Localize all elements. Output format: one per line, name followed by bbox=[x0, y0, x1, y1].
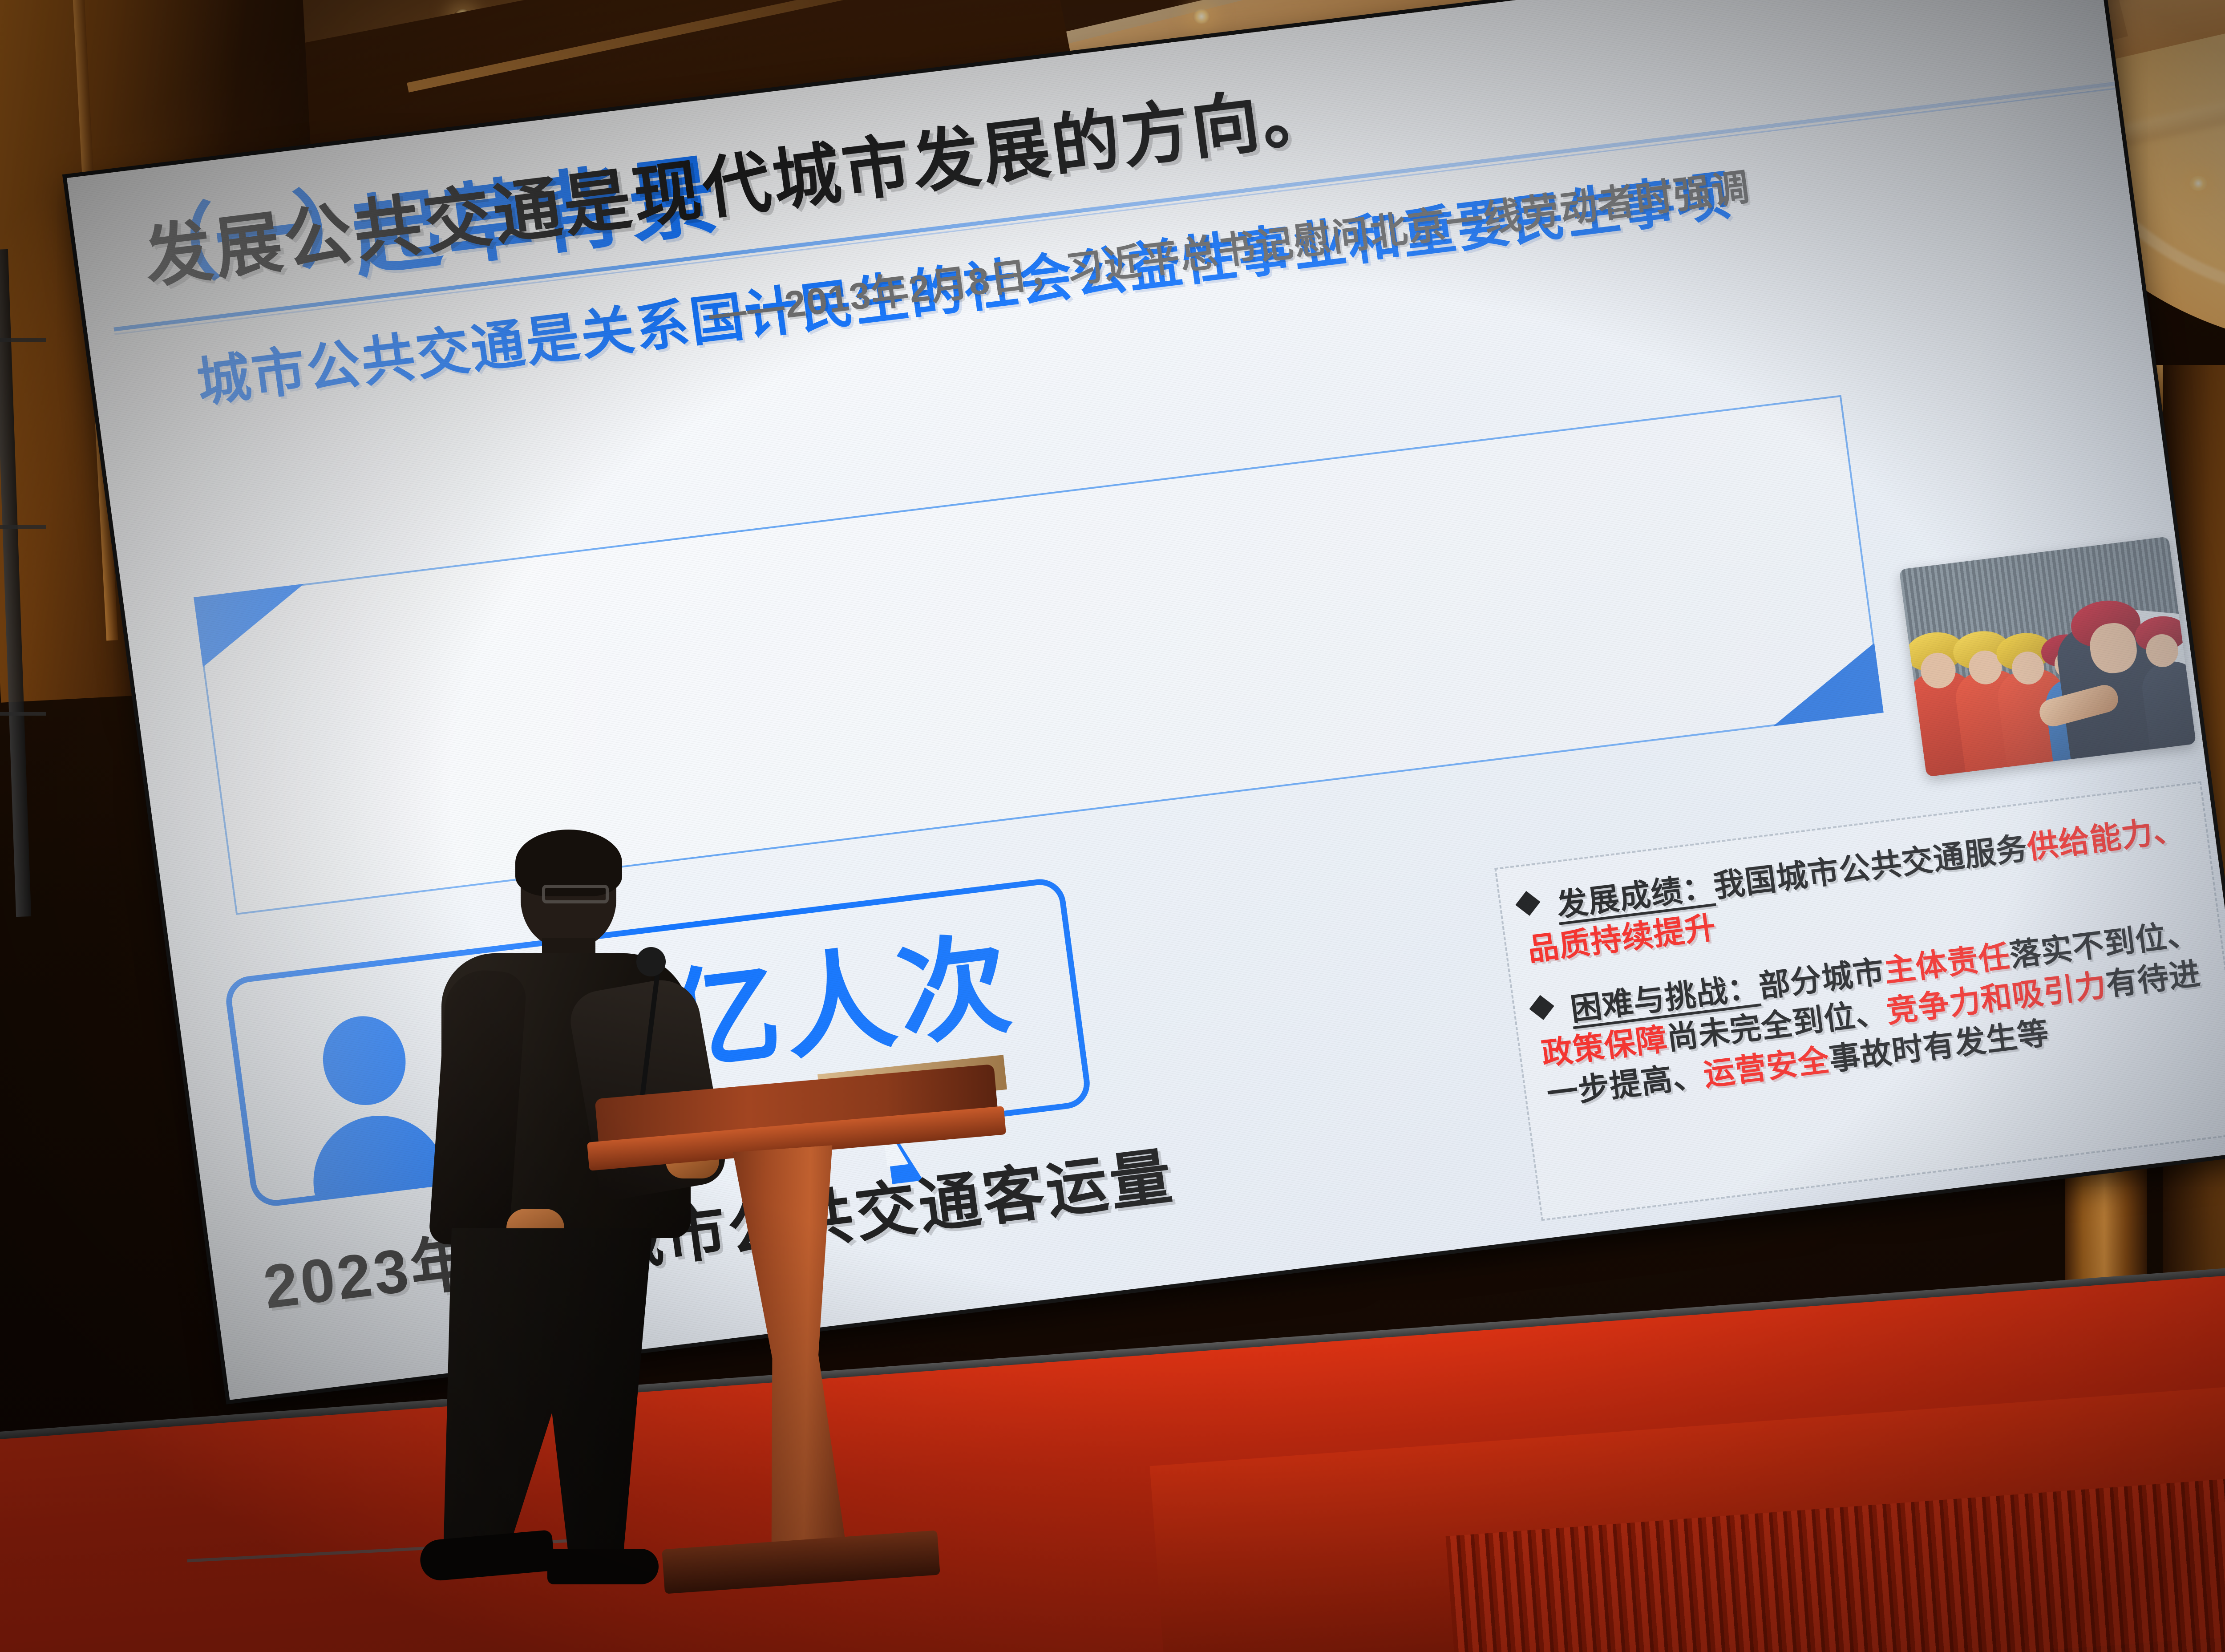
podium bbox=[596, 1081, 997, 1598]
podium-column bbox=[694, 1142, 899, 1555]
microphone-icon bbox=[636, 947, 666, 976]
bullet-segment-highlight: 运营安全 bbox=[1702, 1042, 1832, 1092]
bullets-box: 发展成绩：我国城市公共交通服务供给能力、品质持续提升 困难与挑战：部分城市主体责… bbox=[1494, 781, 2225, 1221]
diamond-bullet-icon bbox=[1515, 891, 1540, 916]
leader-photo bbox=[1899, 536, 2197, 777]
truss-crossbar bbox=[0, 525, 46, 529]
corner-accent-bottom-right bbox=[1764, 643, 1884, 726]
corner-accent-top-left bbox=[194, 584, 313, 667]
downlight-icon bbox=[2189, 176, 2207, 191]
downlight-icon bbox=[1193, 9, 1210, 24]
truss-crossbar bbox=[0, 338, 46, 342]
diamond-bullet-icon bbox=[1529, 995, 1554, 1020]
truss-crossbar bbox=[0, 712, 46, 716]
person-icon-head bbox=[317, 1012, 411, 1110]
glasses-icon bbox=[542, 885, 609, 903]
photo-scene: （一） 起草背景 城市公共交通是关系国计民生的社会公益性事业和重要民生事项 发展… bbox=[0, 0, 2225, 1652]
podium-base bbox=[662, 1530, 940, 1594]
presenter-shoe bbox=[419, 1530, 555, 1582]
bullet-segment: 我国城市公共交通服务 bbox=[1711, 831, 2030, 904]
led-screen: （一） 起草背景 城市公共交通是关系国计民生的社会公益性事业和重要民生事项 发展… bbox=[67, 0, 2225, 1400]
presentation-slide: （一） 起草背景 城市公共交通是关系国计民生的社会公益性事业和重要民生事项 发展… bbox=[67, 0, 2225, 1400]
